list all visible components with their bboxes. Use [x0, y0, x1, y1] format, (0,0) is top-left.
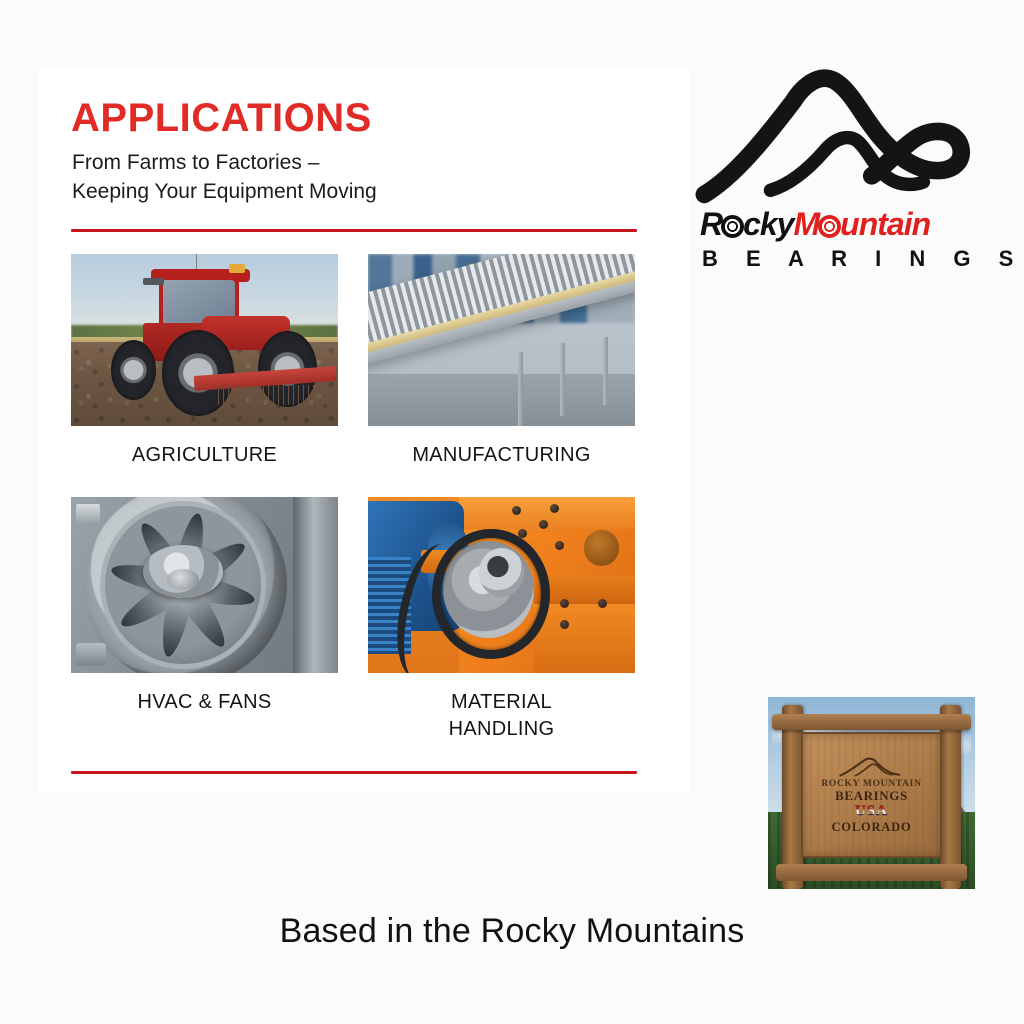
logo-wordmark: RckyMuntain	[700, 208, 998, 240]
bearing-o-black-icon	[721, 215, 744, 238]
subtitle-line-2: Keeping Your Equipment Moving	[72, 177, 377, 206]
application-card-material-handling[interactable]: MATERIAL HANDLING	[368, 497, 635, 743]
sign-board: ROCKY MOUNTAIN BEARINGS USA COLORADO	[801, 732, 942, 859]
application-card-manufacturing[interactable]: MANUFACTURING	[368, 254, 635, 469]
material-handling-photo	[368, 497, 635, 673]
material-handling-label-line-2: HANDLING	[368, 716, 635, 743]
subtitle-line-1: From Farms to Factories –	[72, 148, 377, 177]
hvac-fan-photo	[71, 497, 338, 673]
brand-logo[interactable]: RckyMuntain B E A R I N G S	[694, 62, 1004, 277]
logo-rocky-tail: cky	[743, 206, 793, 242]
page-subtitle: From Farms to Factories – Keeping Your E…	[72, 148, 377, 206]
application-label-material-handling: MATERIAL HANDLING	[368, 689, 635, 743]
agriculture-photo	[71, 254, 338, 426]
logo-mountain-tail: untain	[840, 206, 930, 242]
page-title: APPLICATIONS	[71, 96, 372, 141]
divider-bottom	[71, 771, 637, 774]
logo-rocky-r: R	[700, 206, 722, 242]
logo-tagline: B E A R I N G S	[702, 246, 998, 272]
poster-root: APPLICATIONS From Farms to Factories – K…	[0, 0, 1024, 1024]
sign-mountain-icon	[835, 757, 909, 778]
divider-top	[71, 229, 637, 232]
application-label-hvac: HVAC & FANS	[71, 689, 338, 716]
footer-tagline: Based in the Rocky Mountains	[0, 912, 1024, 951]
application-card-agriculture[interactable]: AGRICULTURE	[71, 254, 338, 469]
application-label-agriculture: AGRICULTURE	[71, 442, 338, 469]
mountain-peaks-icon	[694, 62, 1004, 207]
applications-card: APPLICATIONS From Farms to Factories – K…	[38, 68, 690, 793]
manufacturing-photo	[368, 254, 635, 426]
material-handling-label-line-1: MATERIAL	[368, 689, 635, 716]
application-label-manufacturing: MANUFACTURING	[368, 442, 635, 469]
bearing-o-red-icon	[818, 215, 841, 238]
colorado-sign-photo: ROCKY MOUNTAIN BEARINGS USA COLORADO	[768, 697, 975, 889]
logo-mountain-m: M	[794, 206, 820, 242]
sign-line-4: COLORADO	[831, 820, 911, 835]
application-card-hvac[interactable]: HVAC & FANS	[71, 497, 338, 716]
sign-line-2: BEARINGS	[835, 789, 908, 804]
sign-line-3: USA	[855, 804, 888, 820]
